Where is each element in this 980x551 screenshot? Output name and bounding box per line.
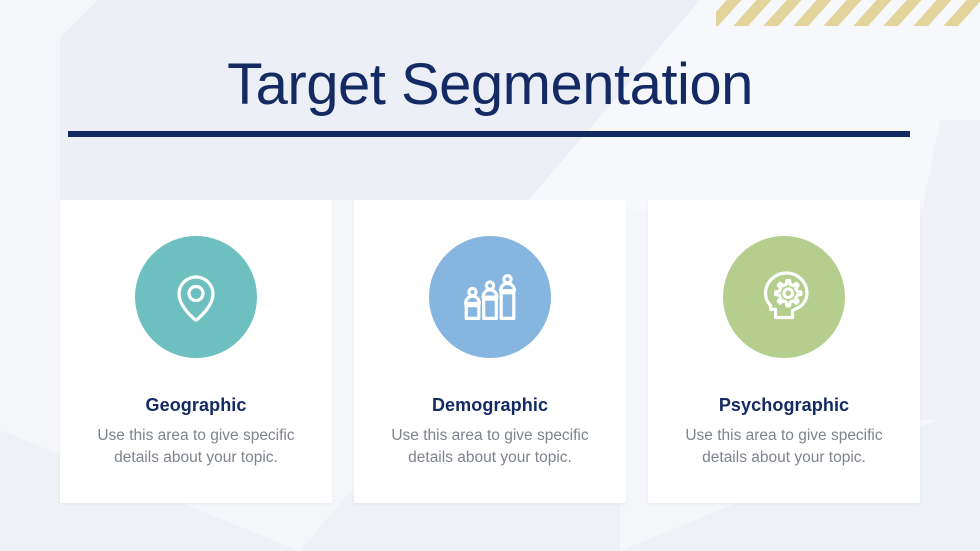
slide-canvas: Target Segmentation Geographic Use this …: [0, 0, 980, 551]
map-pin-icon: [135, 236, 257, 358]
head-gear-icon: [723, 236, 845, 358]
segment-card-row: Geographic Use this area to give specifi…: [0, 200, 980, 504]
card-body-text: Use this area to give specific details a…: [383, 425, 598, 469]
diagonal-gold-stripes: [716, 0, 980, 26]
card-heading: Demographic: [432, 395, 548, 416]
segment-card-geographic[interactable]: Geographic Use this area to give specifi…: [60, 200, 332, 503]
title-underline-rule: [68, 131, 910, 137]
page-title: Target Segmentation: [0, 52, 980, 118]
card-body-text: Use this area to give specific details a…: [677, 425, 892, 469]
segment-card-demographic[interactable]: Demographic Use this area to give specif…: [354, 200, 626, 503]
card-heading: Geographic: [145, 395, 246, 416]
card-heading: Psychographic: [719, 395, 849, 416]
people-bars-icon: [429, 236, 551, 358]
card-body-text: Use this area to give specific details a…: [89, 425, 304, 469]
segment-card-psychographic[interactable]: Psychographic Use this area to give spec…: [648, 200, 920, 503]
